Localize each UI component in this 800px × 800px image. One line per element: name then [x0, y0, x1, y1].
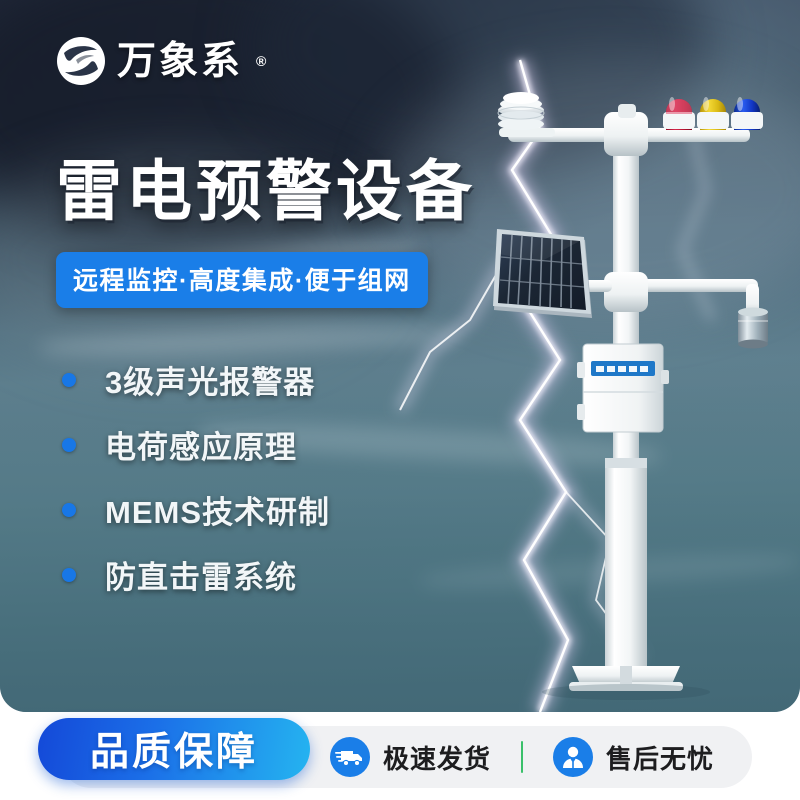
- control-box: [577, 344, 669, 432]
- blue-dot-icon: [62, 503, 76, 517]
- brand-name: 万象系: [117, 42, 243, 81]
- trust-bar: 品质保障 极速发货: [0, 712, 800, 800]
- alarm-beacon-stack: [663, 97, 763, 130]
- feature-list: 3级声光报警器 电荷感应原理 MEMS技术研制 防直击雷系统: [62, 347, 330, 607]
- registered-mark: ®: [256, 53, 266, 69]
- service-item-aftersales: 售后无忧: [553, 737, 714, 777]
- list-item: MEMS技术研制: [62, 477, 330, 542]
- brand-logo: 万象系 ®: [56, 36, 266, 86]
- feature-label: 防直击雷系统: [105, 552, 297, 597]
- service-label: 售后无忧: [606, 739, 714, 776]
- quality-badge: 品质保障: [38, 718, 310, 780]
- feature-label: 电荷感应原理: [105, 422, 297, 467]
- circular-swirl-logo-icon: [56, 36, 106, 86]
- feature-label: 3级声光报警器: [105, 357, 315, 402]
- delivery-truck-icon: [330, 737, 370, 777]
- feature-label: MEMS技术研制: [105, 487, 330, 532]
- list-item: 防直击雷系统: [62, 542, 330, 607]
- quality-badge-label: 品质保障: [90, 721, 258, 777]
- support-agent-icon: [553, 737, 593, 777]
- product-poster: 万象系 ® 雷电预警设备 远程监控·高度集成·便于组网 3级声光报警器 电荷感应…: [0, 0, 800, 800]
- divider: [521, 741, 523, 773]
- blue-dot-icon: [62, 568, 76, 582]
- radiation-shield-sensor: [498, 92, 555, 137]
- list-item: 电荷感应原理: [62, 412, 330, 477]
- subtitle-badge: 远程监控·高度集成·便于组网: [56, 252, 428, 308]
- blue-dot-icon: [62, 373, 76, 387]
- list-item: 3级声光报警器: [62, 347, 330, 412]
- service-item-shipping: 极速发货: [330, 737, 491, 777]
- blue-dot-icon: [62, 438, 76, 452]
- solar-panel: [493, 229, 592, 318]
- service-group: 极速发货 售后无忧: [330, 726, 714, 788]
- page-title: 雷电预警设备: [56, 157, 476, 227]
- field-mill-sensor: [738, 308, 768, 349]
- service-label: 极速发货: [383, 739, 491, 776]
